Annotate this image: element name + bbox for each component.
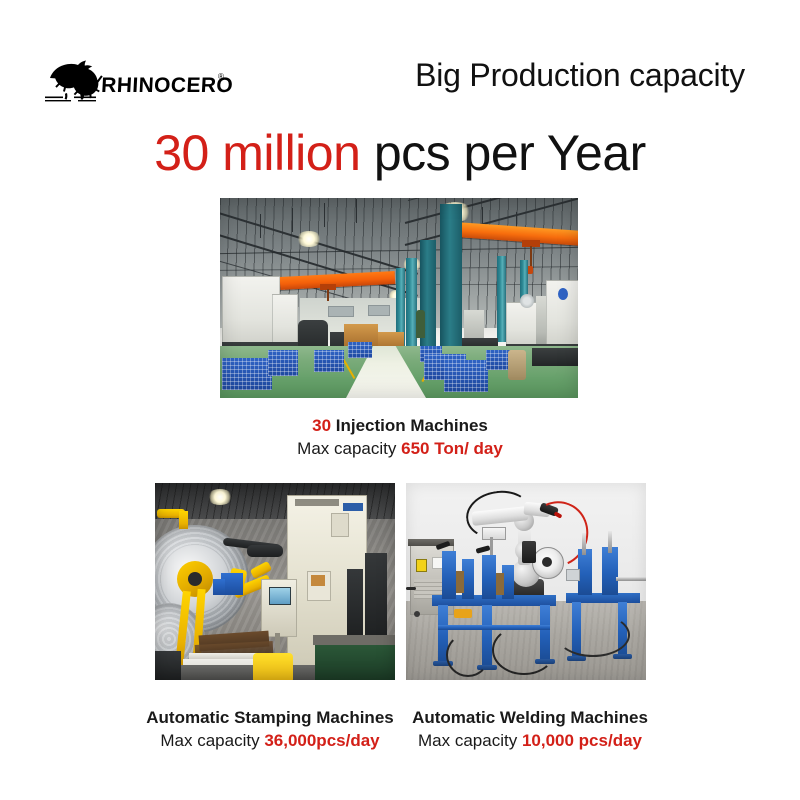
subtitle-accent: 30 million	[154, 125, 360, 181]
stamping-caption: Automatic Stamping Machines Max capacity…	[140, 707, 400, 752]
page-subtitle: 30 million pcs per Year	[60, 124, 740, 182]
injection-caption-line1: 30 Injection Machines	[220, 415, 580, 437]
injection-scene	[220, 198, 578, 398]
brand-logo: RHINOCEROS ®	[38, 52, 233, 102]
injection-caption: 30 Injection Machines Max capacity 650 T…	[220, 415, 580, 460]
photo-vignette	[220, 198, 578, 398]
injection-workshop-photo	[220, 198, 578, 398]
welding-scene	[406, 483, 646, 680]
stamping-label: Automatic Stamping Machines	[146, 708, 393, 727]
stamping-capacity-prefix: Max capacity	[160, 731, 264, 750]
welding-caption: Automatic Welding Machines Max capacity …	[400, 707, 660, 752]
injection-label: Injection Machines	[331, 416, 488, 435]
stamping-machine-photo	[155, 483, 395, 680]
photo-vignette	[155, 483, 395, 680]
rhinoceros-icon	[45, 61, 103, 102]
page-title: Big Production capacity	[390, 57, 770, 94]
stamping-scene	[155, 483, 395, 680]
stamping-caption-line2: Max capacity 36,000pcs/day	[140, 729, 400, 752]
welding-label: Automatic Welding Machines	[412, 708, 648, 727]
welding-machine-photo	[406, 483, 646, 680]
stamping-caption-line1: Automatic Stamping Machines	[140, 707, 400, 729]
poster-root: RHINOCEROS ® Big Production capacity 30 …	[0, 0, 800, 800]
injection-count: 30	[312, 416, 331, 435]
welding-caption-line1: Automatic Welding Machines	[400, 707, 660, 729]
injection-capacity-prefix: Max capacity	[297, 439, 401, 458]
brand-logo-wordmark: RHINOCEROS	[101, 74, 233, 97]
stamping-capacity-value: 36,000pcs/day	[264, 731, 379, 750]
injection-capacity-value: 650 Ton/ day	[401, 439, 503, 458]
photo-vignette	[406, 483, 646, 680]
welding-caption-line2: Max capacity 10,000 pcs/day	[400, 729, 660, 752]
brand-logo-trademark: ®	[218, 72, 224, 81]
welding-capacity-prefix: Max capacity	[418, 731, 522, 750]
injection-caption-line2: Max capacity 650 Ton/ day	[220, 437, 580, 460]
welding-capacity-value: 10,000 pcs/day	[522, 731, 642, 750]
subtitle-rest: pcs per Year	[360, 125, 645, 181]
